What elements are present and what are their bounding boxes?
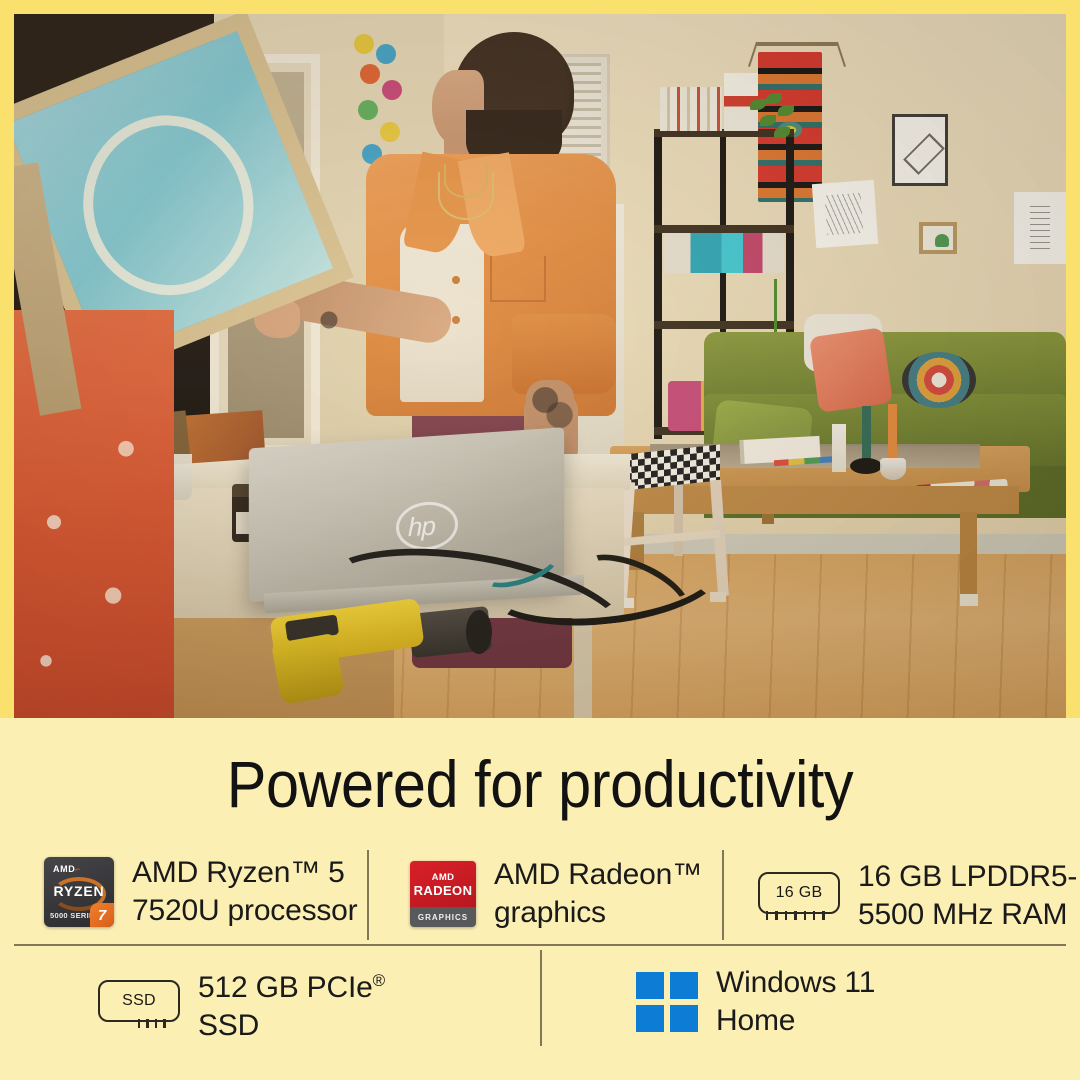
radeon-sub-text: GRAPHICS <box>418 913 468 922</box>
spec-memory: 16 GB 16 GB LPDDR5- 5500 MHz RAM <box>758 858 1077 934</box>
radeon-name-text: RADEON <box>410 883 476 898</box>
shelf-plant <box>750 93 794 149</box>
shirt-button-1 <box>452 276 460 284</box>
framed-butterfly <box>919 222 957 254</box>
amd-radeon-badge-icon: AMD RADEON GRAPHICS <box>410 861 476 927</box>
stool-foot-right <box>710 592 726 602</box>
shirt-pocket <box>490 256 546 302</box>
shirt-button-2 <box>452 316 460 324</box>
spec-processor-label: AMD Ryzen™ 5 7520U processor <box>132 854 357 930</box>
sketch-paper-left <box>812 180 878 248</box>
shelf-items-upper <box>664 233 784 273</box>
arm-tattoo-secondary <box>312 308 346 332</box>
spec-os-label: Windows 11 Home <box>716 964 875 1040</box>
coffee-table-foot <box>960 594 978 606</box>
divider-horizontal <box>14 944 1066 946</box>
ssd-module-icon: SSD <box>98 980 180 1028</box>
ssd-chip-label: SSD <box>98 980 180 1022</box>
spec-storage-label-post: SSD <box>198 1009 259 1042</box>
divider-vertical-1 <box>367 850 369 940</box>
specs-panel: Powered for productivity AMD⌐ RYZEN 5000… <box>0 718 1080 1080</box>
coffee-table-apron <box>624 486 1019 514</box>
spec-storage: SSD 512 GB PCIe® SSD <box>98 962 385 1045</box>
amd-ryzen-badge-icon: AMD⌐ RYZEN 5000 SERIES 7 <box>44 857 114 927</box>
pillar-candle <box>832 424 846 472</box>
ram-chip-label: 16 GB <box>758 872 840 914</box>
spec-storage-label: 512 GB PCIe® SSD <box>198 962 385 1045</box>
orange-pillow <box>809 327 893 413</box>
necklace-outer <box>438 172 494 220</box>
heat-gun-grip <box>271 633 345 705</box>
spec-storage-label-pre: 512 GB PCIe <box>198 971 373 1004</box>
ryzen-tier-text: 7 <box>90 903 114 927</box>
ram-module-icon: 16 GB <box>758 872 840 920</box>
tapestry-rod <box>756 42 838 46</box>
registered-mark: ® <box>373 971 385 990</box>
spec-processor: AMD⌐ RYZEN 5000 SERIES 7 AMD Ryzen™ 5 75… <box>44 854 357 930</box>
spec-operating-system: Windows 11 Home <box>636 964 875 1040</box>
spec-graphics-label: AMD Radeon™ graphics <box>494 856 702 932</box>
heat-gun-nozzle-ring <box>466 610 492 654</box>
radeon-sub: GRAPHICS <box>410 907 476 927</box>
framed-artwork-diamond <box>892 114 948 186</box>
radeon-amd-text: AMD <box>410 872 476 883</box>
spec-graphics: AMD RADEON GRAPHICS AMD Radeon™ graphics <box>410 856 702 932</box>
ssd-pins <box>138 1019 166 1028</box>
page-title: Powered for productivity <box>54 746 1026 822</box>
windows-logo-icon <box>636 972 698 1032</box>
ryzen-amd-text: AMD⌐ <box>53 864 81 874</box>
product-feature-card: hp Powered for productivity AMD⌐ RYZEN <box>0 0 1080 1080</box>
hero-photo: hp <box>14 14 1066 718</box>
sketch-paper-right <box>1014 192 1066 264</box>
coffee-table-leg-right <box>960 512 977 606</box>
books <box>660 87 722 131</box>
divider-vertical-3 <box>540 950 542 1046</box>
ryzen-name-text: RYZEN <box>44 883 114 899</box>
divider-vertical-2 <box>722 850 724 940</box>
arm-tattoo <box>526 380 574 430</box>
round-woven-pillow <box>902 352 976 408</box>
orange-taper-candle <box>888 404 897 462</box>
paper-streamer-decor <box>354 34 410 174</box>
green-taper-candle <box>862 406 871 462</box>
candle-holder-dark <box>850 458 882 474</box>
hp-wordmark: hp <box>408 511 435 544</box>
glass-candle-holder <box>880 458 906 480</box>
spec-memory-label: 16 GB LPDDR5- 5500 MHz RAM <box>858 858 1077 934</box>
ram-pins <box>766 911 825 920</box>
